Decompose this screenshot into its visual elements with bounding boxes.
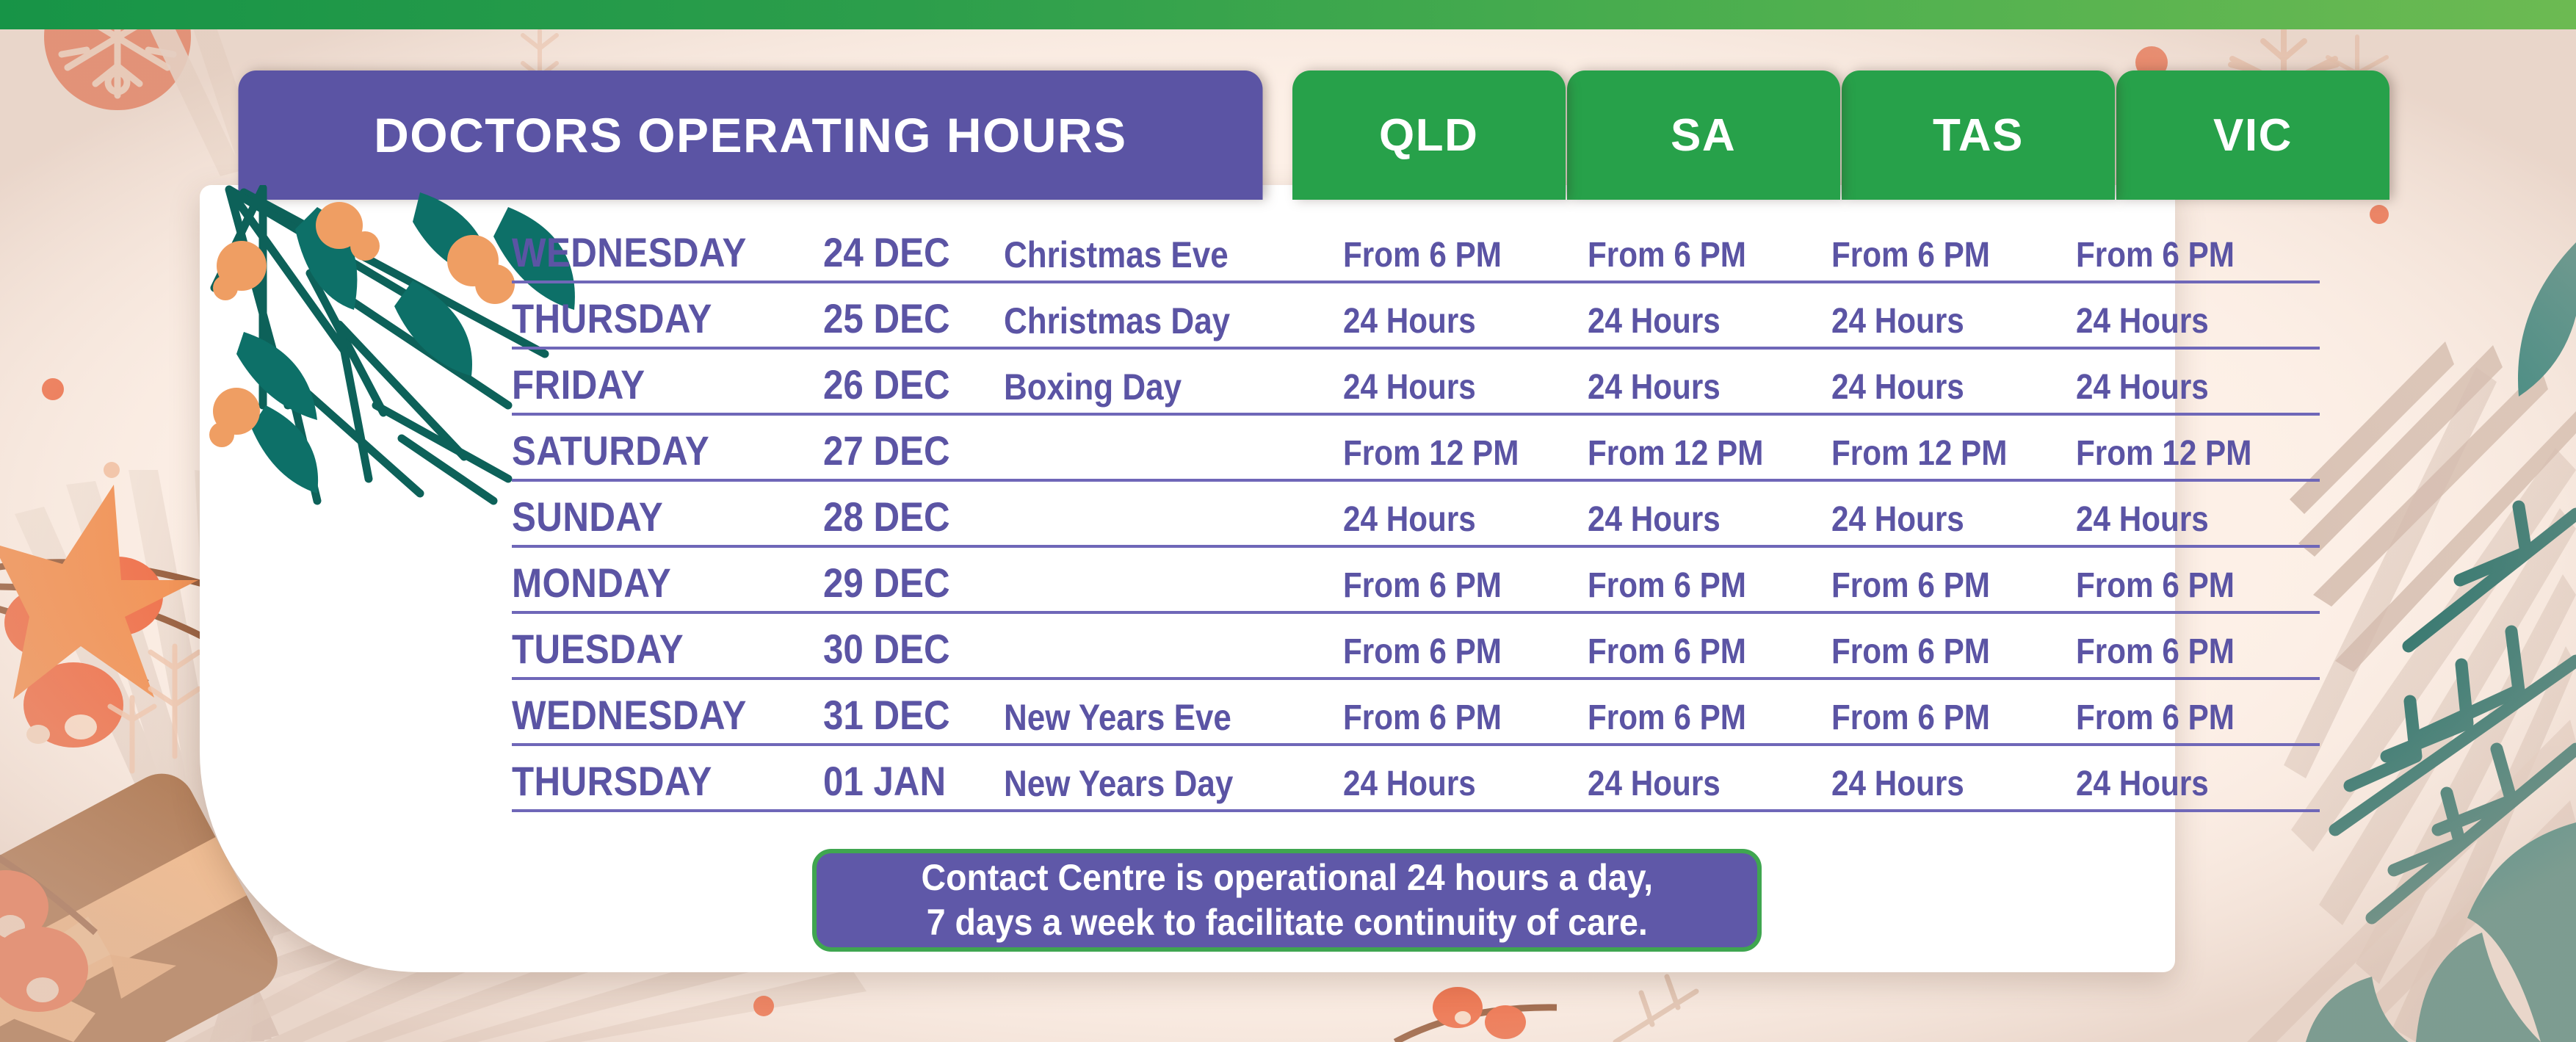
cell-vic: From 6 PM (2076, 568, 2291, 611)
cell-day: WEDNESDAY (512, 695, 786, 743)
cell-day: WEDNESDAY (512, 232, 786, 281)
contact-centre-banner: Contact Centre is operational 24 hours a… (812, 849, 1762, 952)
cell-vic: From 6 PM (2076, 701, 2291, 743)
cell-vic: 24 Hours (2076, 502, 2291, 545)
cell-occasion: Christmas Eve (1004, 236, 1303, 281)
table-row: FRIDAY 26 DEC Boxing Day 24 Hours 24 Hou… (512, 350, 2320, 416)
cell-occasion: Christmas Day (1004, 303, 1303, 347)
cell-qld: From 6 PM (1343, 634, 1558, 677)
cell-sa: 24 Hours (1588, 304, 1803, 347)
cell-sa: From 6 PM (1588, 634, 1803, 677)
cell-date: 28 DEC (823, 496, 982, 545)
cell-vic: 24 Hours (2076, 370, 2291, 413)
table-row: WEDNESDAY 24 DEC Christmas Eve From 6 PM… (512, 217, 2320, 283)
cell-day: FRIDAY (512, 364, 786, 413)
cell-date: 26 DEC (823, 364, 982, 413)
cell-tas: 24 Hours (1831, 370, 2047, 413)
tab-state-sa[interactable]: SA (1567, 70, 1840, 200)
cell-occasion: New Years Eve (1004, 699, 1303, 743)
cell-tas: From 12 PM (1831, 436, 2047, 479)
table-row: MONDAY 29 DEC From 6 PM From 6 PM From 6… (512, 548, 2320, 614)
cell-day: THURSDAY (512, 761, 786, 809)
cell-date: 24 DEC (823, 232, 982, 281)
poster-canvas: DOCTORS OPERATING HOURS QLD SA TAS VIC (0, 0, 2576, 1042)
cell-date: 01 JAN (823, 761, 982, 809)
cell-tas: From 6 PM (1831, 701, 2047, 743)
contact-centre-line-1: Contact Centre is operational 24 hours a… (921, 855, 1653, 900)
table-row: WEDNESDAY 31 DEC New Years Eve From 6 PM… (512, 680, 2320, 746)
cell-date: 31 DEC (823, 695, 982, 743)
table-row: THURSDAY 25 DEC Christmas Day 24 Hours 2… (512, 283, 2320, 350)
cell-date: 25 DEC (823, 298, 982, 347)
cell-sa: From 6 PM (1588, 238, 1803, 281)
table-row: SUNDAY 28 DEC 24 Hours 24 Hours 24 Hours… (512, 482, 2320, 548)
cell-qld: From 6 PM (1343, 238, 1558, 281)
cell-tas: 24 Hours (1831, 502, 2047, 545)
cell-sa: From 12 PM (1588, 436, 1803, 479)
tab-bar: DOCTORS OPERATING HOURS QLD SA TAS VIC (200, 70, 2400, 200)
cell-day: SUNDAY (512, 496, 786, 545)
cell-qld: From 6 PM (1343, 568, 1558, 611)
cell-qld: 24 Hours (1343, 370, 1558, 413)
cell-date: 29 DEC (823, 562, 982, 611)
cell-vic: 24 Hours (2076, 767, 2291, 809)
cell-tas: From 6 PM (1831, 238, 2047, 281)
cell-occasion (1004, 471, 1303, 479)
tab-state-qld[interactable]: QLD (1292, 70, 1566, 200)
cell-sa: From 6 PM (1588, 701, 1803, 743)
tab-state-tas[interactable]: TAS (1842, 70, 2115, 200)
cell-qld: 24 Hours (1343, 767, 1558, 809)
cell-qld: From 6 PM (1343, 701, 1558, 743)
cell-sa: From 6 PM (1588, 568, 1803, 611)
cell-qld: 24 Hours (1343, 502, 1558, 545)
cell-vic: From 6 PM (2076, 634, 2291, 677)
cell-vic: From 12 PM (2076, 436, 2291, 479)
cell-sa: 24 Hours (1588, 502, 1803, 545)
cell-occasion: Boxing Day (1004, 369, 1303, 413)
cell-occasion (1004, 604, 1303, 611)
cell-tas: From 6 PM (1831, 568, 2047, 611)
cell-occasion (1004, 538, 1303, 545)
cell-occasion (1004, 670, 1303, 677)
table-row: SATURDAY 27 DEC From 12 PM From 12 PM Fr… (512, 416, 2320, 482)
top-green-bar (0, 0, 2576, 29)
cell-day: THURSDAY (512, 298, 786, 347)
operating-hours-table: WEDNESDAY 24 DEC Christmas Eve From 6 PM… (512, 217, 2320, 812)
page-title: DOCTORS OPERATING HOURS (374, 107, 1127, 163)
cell-day: MONDAY (512, 562, 786, 611)
cell-tas: From 6 PM (1831, 634, 2047, 677)
cell-day: SATURDAY (512, 430, 786, 479)
tab-state-vic[interactable]: VIC (2116, 70, 2389, 200)
cell-date: 30 DEC (823, 629, 982, 677)
tab-state-tas-label: TAS (1933, 109, 2024, 162)
cell-vic: 24 Hours (2076, 304, 2291, 347)
table-row: TUESDAY 30 DEC From 6 PM From 6 PM From … (512, 614, 2320, 680)
tab-state-vic-label: VIC (2213, 109, 2293, 162)
table-row: THURSDAY 01 JAN New Years Day 24 Hours 2… (512, 746, 2320, 812)
cell-qld: From 12 PM (1343, 436, 1558, 479)
cell-tas: 24 Hours (1831, 304, 2047, 347)
cell-qld: 24 Hours (1343, 304, 1558, 347)
contact-centre-text: Contact Centre is operational 24 hours a… (921, 855, 1653, 945)
cell-vic: From 6 PM (2076, 238, 2291, 281)
cell-tas: 24 Hours (1831, 767, 2047, 809)
cell-day: TUESDAY (512, 629, 786, 677)
cell-occasion: New Years Day (1004, 765, 1303, 809)
cell-sa: 24 Hours (1588, 370, 1803, 413)
cell-sa: 24 Hours (1588, 767, 1803, 809)
tab-doctors-operating-hours: DOCTORS OPERATING HOURS (239, 70, 1263, 200)
tab-state-sa-label: SA (1671, 109, 1736, 162)
cell-date: 27 DEC (823, 430, 982, 479)
contact-centre-line-2: 7 days a week to facilitate continuity o… (921, 900, 1653, 945)
tab-state-qld-label: QLD (1379, 109, 1478, 162)
